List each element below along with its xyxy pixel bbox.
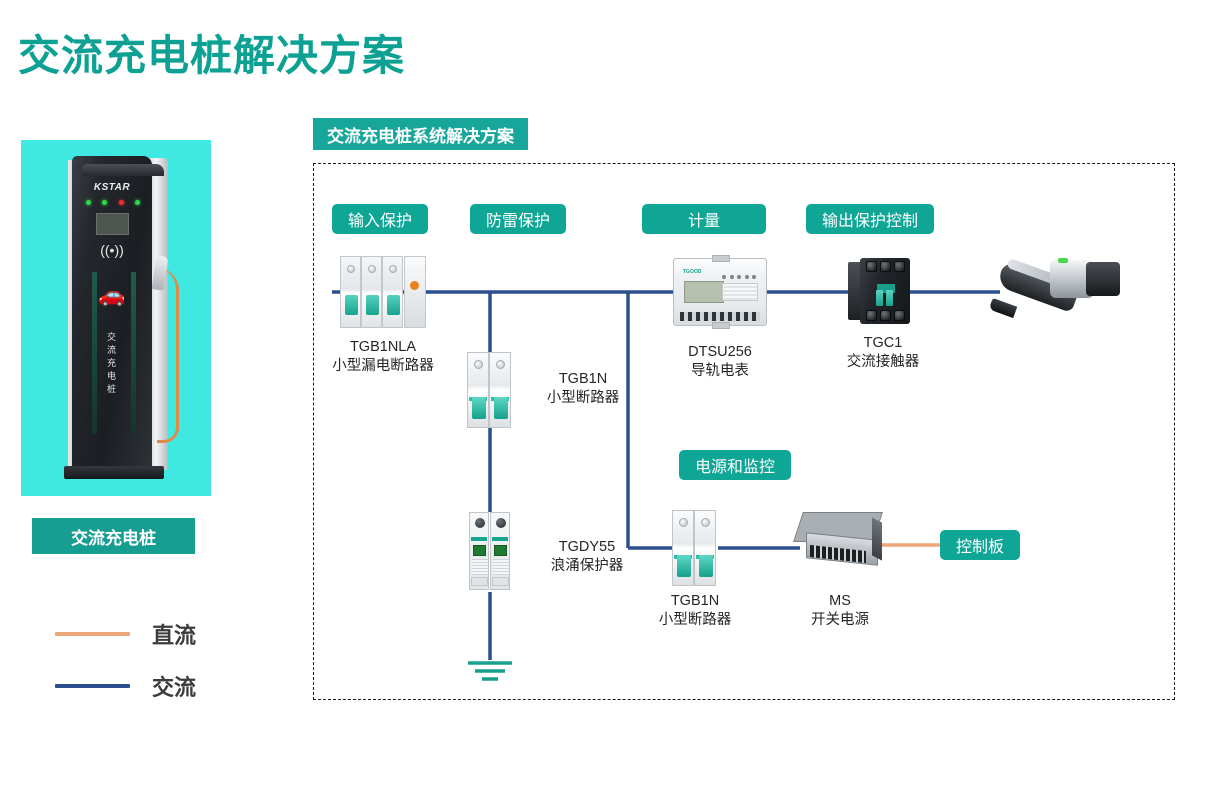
connector-tip	[989, 298, 1018, 318]
screw-icon	[679, 518, 688, 527]
spd-print-area	[472, 559, 488, 575]
toggle-switch[interactable]	[699, 555, 713, 577]
label-ac-contactor-desc: 交流接触器	[832, 353, 934, 372]
label-mcb-lower: TGB1N 小型断路器	[635, 592, 755, 630]
label-rcbo-model: TGB1NLA	[310, 338, 456, 357]
device-rcbo[interactable]	[340, 256, 426, 328]
meter-terminal-block	[680, 312, 760, 321]
device-ac-contactor[interactable]	[848, 258, 910, 324]
spd-brand-band	[471, 537, 487, 541]
device-mcb-lower[interactable]	[672, 510, 718, 586]
screw-icon	[701, 518, 710, 527]
tag-metering[interactable]: 计量	[642, 204, 766, 234]
test-button-icon[interactable]	[410, 281, 419, 290]
device-spd[interactable]	[469, 512, 511, 590]
screw-icon	[368, 265, 376, 273]
spd-status-window	[473, 545, 486, 556]
device-mcb-upper[interactable]	[467, 352, 513, 428]
label-mcb-lower-desc: 小型断路器	[635, 611, 755, 630]
meter-lcd-display	[684, 281, 724, 303]
screw-icon	[496, 360, 505, 369]
label-ac-contactor-model: TGC1	[832, 334, 934, 353]
meter-top-clip	[712, 255, 730, 262]
meter-right-panel	[722, 283, 758, 301]
spd-terminal	[471, 577, 488, 586]
rcbo-module-1	[340, 256, 361, 328]
label-mcb-upper: TGB1N 小型断路器	[523, 370, 643, 408]
contactor-terminal	[894, 261, 905, 272]
label-mcb-upper-model: TGB1N	[523, 370, 643, 389]
device-din-meter[interactable]: TGOOD	[673, 258, 767, 326]
label-spd-desc: 浪涌保护器	[528, 557, 646, 576]
device-switching-power-supply[interactable]	[796, 512, 882, 568]
toggle-switch[interactable]	[677, 555, 691, 577]
spd-brand-band	[492, 537, 508, 541]
label-ac-contactor: TGC1 交流接触器	[832, 334, 934, 372]
spd-module-1	[469, 512, 489, 590]
toggle-switch[interactable]	[387, 295, 400, 315]
label-din-meter: DTSU256 导轨电表	[662, 343, 778, 381]
meter-bottom-clip	[712, 322, 730, 329]
label-spd: TGDY55 浪涌保护器	[528, 538, 646, 576]
mcb-module-2	[489, 352, 511, 428]
contactor-button[interactable]	[886, 290, 893, 306]
toggle-switch[interactable]	[494, 397, 508, 419]
mcb-module-1	[467, 352, 489, 428]
tag-power-and-monitoring[interactable]: 电源和监控	[679, 450, 791, 480]
screw-icon	[347, 265, 355, 273]
label-psu-desc: 开关电源	[790, 611, 890, 630]
spd-knob-icon	[475, 518, 485, 528]
mcb-module-2	[694, 510, 716, 586]
label-psu-model: MS	[790, 592, 890, 611]
label-rcbo-desc: 小型漏电断路器	[310, 357, 456, 376]
connector-head	[1086, 262, 1120, 296]
spd-status-window	[494, 545, 507, 556]
tag-lightning-protection[interactable]: 防雷保护	[470, 204, 566, 234]
contactor-terminal	[880, 261, 891, 272]
spd-module-2	[490, 512, 510, 590]
contactor-terminal	[894, 310, 905, 321]
rcbo-test-face	[404, 256, 426, 328]
mcb-module-1	[672, 510, 694, 586]
contactor-terminal	[866, 261, 877, 272]
rcbo-module-2	[361, 256, 382, 328]
toggle-switch[interactable]	[472, 397, 486, 419]
diagram-canvas: 输入保护 防雷保护 计量 输出保护控制 电源和监控 控制板 TGB1NLA 小型…	[0, 0, 1213, 812]
connector-status-light	[1058, 258, 1068, 263]
label-din-meter-model: DTSU256	[662, 343, 778, 362]
label-din-meter-desc: 导轨电表	[662, 362, 778, 381]
rcbo-module-3	[382, 256, 403, 328]
tag-input-protection[interactable]: 输入保护	[332, 204, 428, 234]
contactor-terminal	[866, 310, 877, 321]
meter-led-row	[722, 275, 756, 279]
label-psu: MS 开关电源	[790, 592, 890, 630]
ev-charging-connector	[990, 252, 1120, 318]
spd-print-area	[493, 559, 509, 575]
screw-icon	[474, 360, 483, 369]
toggle-switch[interactable]	[366, 295, 379, 315]
tag-control-board[interactable]: 控制板	[940, 530, 1020, 560]
label-rcbo: TGB1NLA 小型漏电断路器	[310, 338, 456, 376]
toggle-switch[interactable]	[345, 295, 358, 315]
contactor-body	[860, 258, 910, 324]
tag-output-protection-control[interactable]: 输出保护控制	[806, 204, 934, 234]
label-mcb-upper-desc: 小型断路器	[523, 389, 643, 408]
psu-side-panel	[872, 517, 882, 560]
spd-terminal	[492, 577, 509, 586]
label-spd-model: TGDY55	[528, 538, 646, 557]
meter-brand-mark: TGOOD	[683, 269, 701, 275]
label-mcb-lower-model: TGB1N	[635, 592, 755, 611]
contactor-button[interactable]	[876, 290, 883, 306]
spd-knob-icon	[496, 518, 506, 528]
screw-icon	[389, 265, 397, 273]
contactor-terminal	[880, 310, 891, 321]
